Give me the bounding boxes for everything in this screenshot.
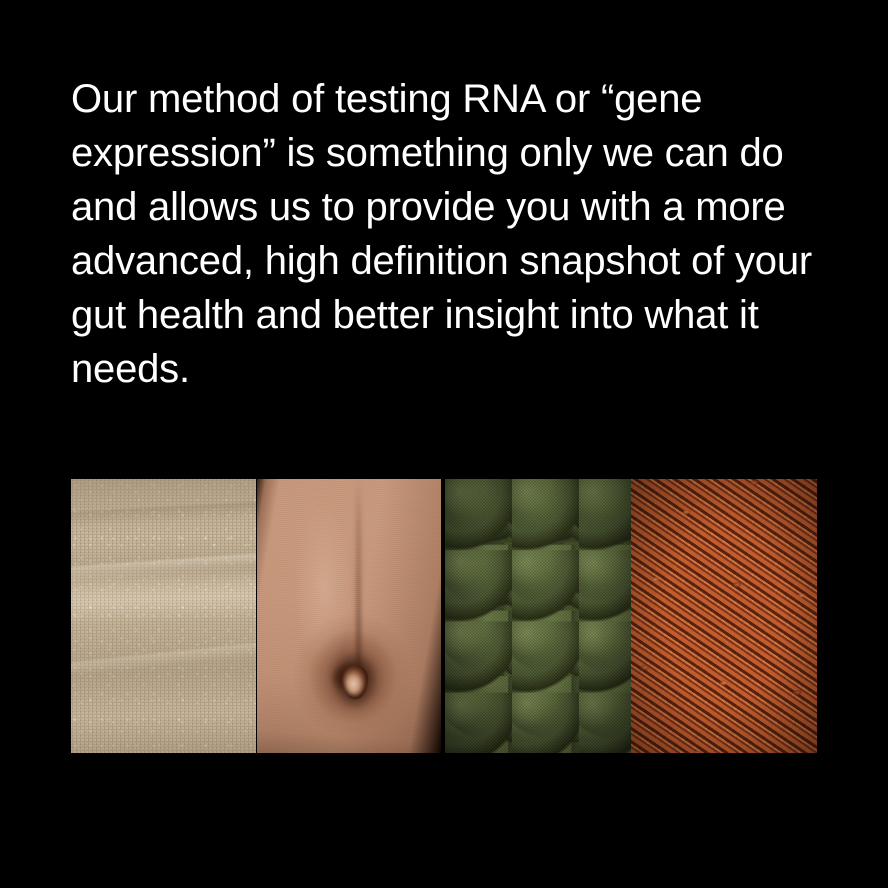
avocado-vignette — [445, 479, 631, 753]
navel-shape — [342, 665, 368, 699]
sand-ripple-overlay — [71, 479, 256, 753]
page-title: Our method of testing RNA or “gene expre… — [71, 72, 831, 396]
slide-canvas: Our method of testing RNA or “gene expre… — [0, 0, 888, 888]
image-strip — [71, 479, 817, 753]
panel-sand — [71, 479, 256, 753]
linea-alba-crease — [356, 479, 361, 676]
panel-torso — [257, 479, 441, 753]
skin-highlight — [294, 506, 353, 670]
panel-rice — [631, 479, 817, 753]
panel-avocados — [445, 479, 631, 753]
rice-vignette — [631, 479, 817, 753]
